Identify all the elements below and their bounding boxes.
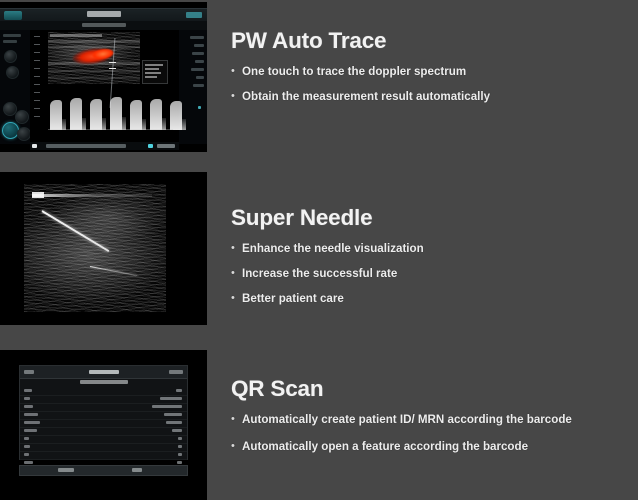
exam-title-text [87, 11, 121, 17]
parameter-label [192, 52, 204, 55]
bullet-icon: • [231, 413, 235, 426]
bullet-icon: • [231, 242, 235, 255]
ultrasound-probe-bar [0, 21, 207, 30]
list-item: • Increase the successful rate [231, 267, 424, 280]
measurement-results-box [142, 60, 168, 84]
pw-doppler-ultrasound-screenshot [0, 2, 207, 152]
sample-volume-gate [109, 62, 116, 63]
dialog-cancel-button[interactable] [132, 468, 142, 472]
probe-label-text [82, 23, 126, 27]
needle-tip-echo [90, 266, 137, 276]
list-item-label: Automatically create patient ID/ MRN acc… [242, 413, 572, 426]
parameter-label [190, 36, 204, 39]
pw-spectral-doppler-waveform [48, 90, 173, 130]
section-heading: QR Scan [231, 376, 572, 402]
toolbar-icon[interactable] [148, 144, 153, 148]
list-item: • Automatically create patient ID/ MRN a… [231, 413, 572, 426]
right-panel-indicator-icon [198, 106, 201, 109]
bullet-icon: • [231, 440, 235, 453]
control-knob[interactable] [15, 110, 29, 124]
b-mode-color-doppler-image [48, 32, 140, 84]
b-mode-needle-image [24, 184, 166, 312]
needle-ultrasound-screenshot [0, 172, 207, 325]
parameter-label [191, 68, 204, 71]
list-item: • One touch to trace the doppler spectru… [231, 65, 490, 78]
pw-auto-trace-text-block: PW Auto Trace • One touch to trace the d… [231, 28, 490, 103]
patient-field-list [20, 387, 187, 459]
control-knob[interactable] [4, 50, 17, 63]
image-annotation-text [50, 34, 102, 37]
list-item-label: Enhance the needle visualization [242, 242, 424, 255]
dialog-action-bar [19, 465, 188, 476]
ultrasound-bottom-toolbar [30, 142, 179, 150]
depth-scale [32, 34, 41, 122]
dialog-title-text [89, 370, 119, 374]
control-knob[interactable] [17, 127, 31, 141]
left-panel-label [3, 40, 17, 43]
dialog-subtitle-text [80, 380, 128, 384]
dialog-ok-button[interactable] [58, 468, 74, 472]
dialog-close-icon[interactable] [169, 370, 183, 374]
list-item-label: Automatically open a feature according t… [242, 440, 528, 453]
parameter-label [195, 60, 204, 63]
section-bullet-list: • Enhance the needle visualization • Inc… [231, 242, 424, 305]
section-heading: Super Needle [231, 205, 424, 231]
section-heading: PW Auto Trace [231, 28, 490, 54]
dialog-back-icon[interactable] [24, 370, 34, 374]
left-panel-label [3, 34, 21, 37]
ultrasound-left-control-panel [0, 30, 30, 144]
list-item: • Enhance the needle visualization [231, 242, 424, 255]
list-item: • Automatically open a feature according… [231, 440, 572, 453]
bullet-icon: • [231, 90, 235, 103]
status-indicator-icon [186, 12, 202, 18]
toolbar-slider[interactable] [46, 144, 126, 148]
control-knob[interactable] [6, 66, 19, 79]
list-item: • Better patient care [231, 292, 424, 305]
image-annotation-marker [32, 192, 44, 198]
list-item-label: Obtain the measurement result automatica… [242, 90, 490, 103]
list-item-label: Increase the successful rate [242, 267, 397, 280]
patient-info-dialog [19, 365, 188, 460]
parameter-label [194, 44, 204, 47]
vendor-logo-icon [4, 11, 22, 20]
section-bullet-list: • Automatically create patient ID/ MRN a… [231, 413, 572, 453]
super-needle-text-block: Super Needle • Enhance the needle visual… [231, 205, 424, 305]
list-item: • Obtain the measurement result automati… [231, 90, 490, 103]
bullet-icon: • [231, 65, 235, 78]
auto-trace-button[interactable] [2, 122, 19, 139]
doppler-baseline [48, 129, 173, 130]
bullet-icon: • [231, 292, 235, 305]
section-bullet-list: • One touch to trace the doppler spectru… [231, 65, 490, 103]
needle-shaft-highlight [41, 210, 109, 252]
toolbar-label [157, 144, 175, 148]
sample-volume-gate [109, 68, 116, 69]
toolbar-icon[interactable] [32, 144, 37, 148]
qr-patient-info-dialog-screenshot [0, 350, 207, 500]
parameter-label [196, 76, 204, 79]
dialog-title-bar [20, 366, 187, 379]
list-item-label: Better patient care [242, 292, 344, 305]
skin-line [32, 194, 152, 197]
presentation-slide: PW Auto Trace • One touch to trace the d… [0, 0, 638, 500]
ultrasound-image-area [30, 30, 179, 142]
bullet-icon: • [231, 267, 235, 280]
qr-scan-text-block: QR Scan • Automatically create patient I… [231, 376, 572, 453]
list-item-label: One touch to trace the doppler spectrum [242, 65, 466, 78]
parameter-label [193, 84, 204, 87]
